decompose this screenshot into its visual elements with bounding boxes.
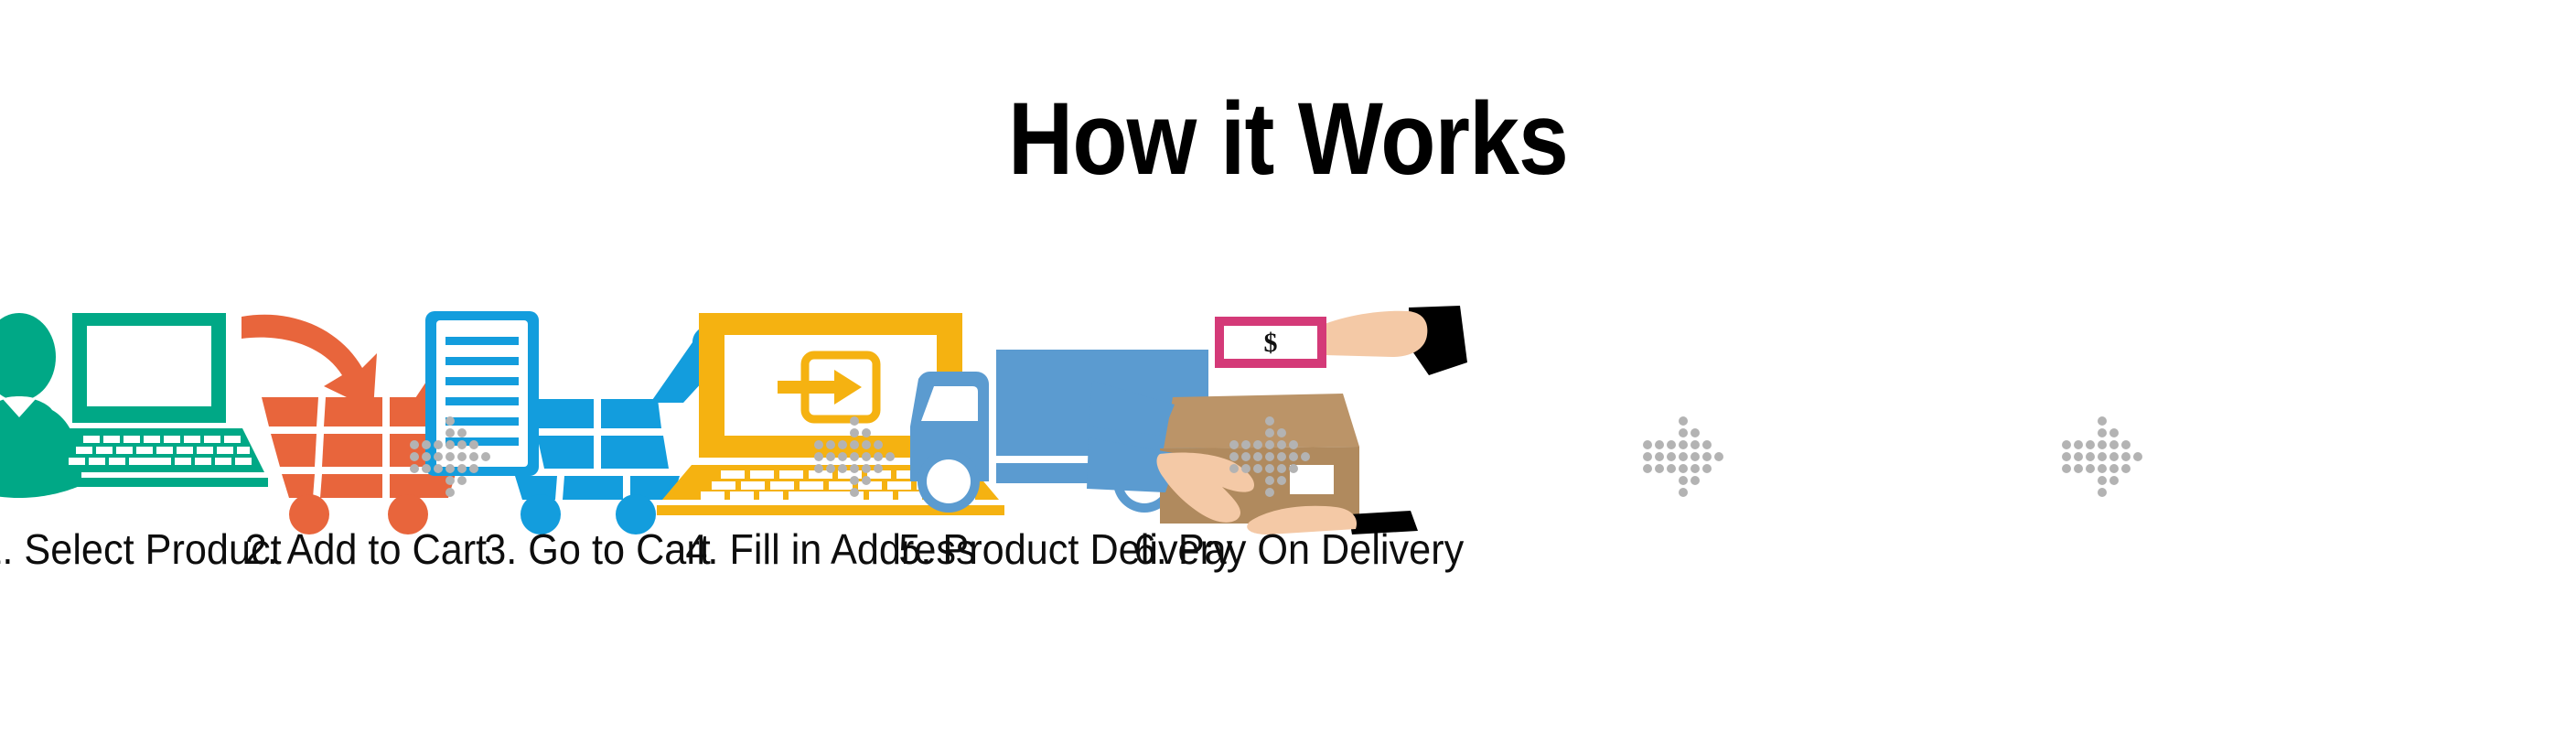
dotted-arrow-right-icon (2058, 410, 2146, 498)
how-it-works-infographic: How it Works (0, 0, 2576, 745)
dotted-arrow-right-icon (1639, 410, 1727, 498)
page-title: How it Works (155, 88, 2421, 190)
banknote: $ (1215, 317, 1326, 368)
dotted-arrow-right-icon (1226, 410, 1314, 498)
separator-arrow-2 (810, 410, 898, 498)
dotted-arrow-right-icon (406, 410, 494, 498)
separator-arrow-4 (1639, 410, 1727, 498)
step-6-label: 6. Pay On Delivery (1092, 526, 1505, 573)
sleeve-blue-upper (1089, 381, 1175, 436)
separator-arrow-3 (1226, 410, 1314, 498)
separator-arrow-1 (406, 410, 494, 498)
dotted-arrow-right-icon (810, 410, 898, 498)
dollar-symbol: $ (1264, 328, 1278, 358)
separator-arrow-5 (2058, 410, 2146, 498)
